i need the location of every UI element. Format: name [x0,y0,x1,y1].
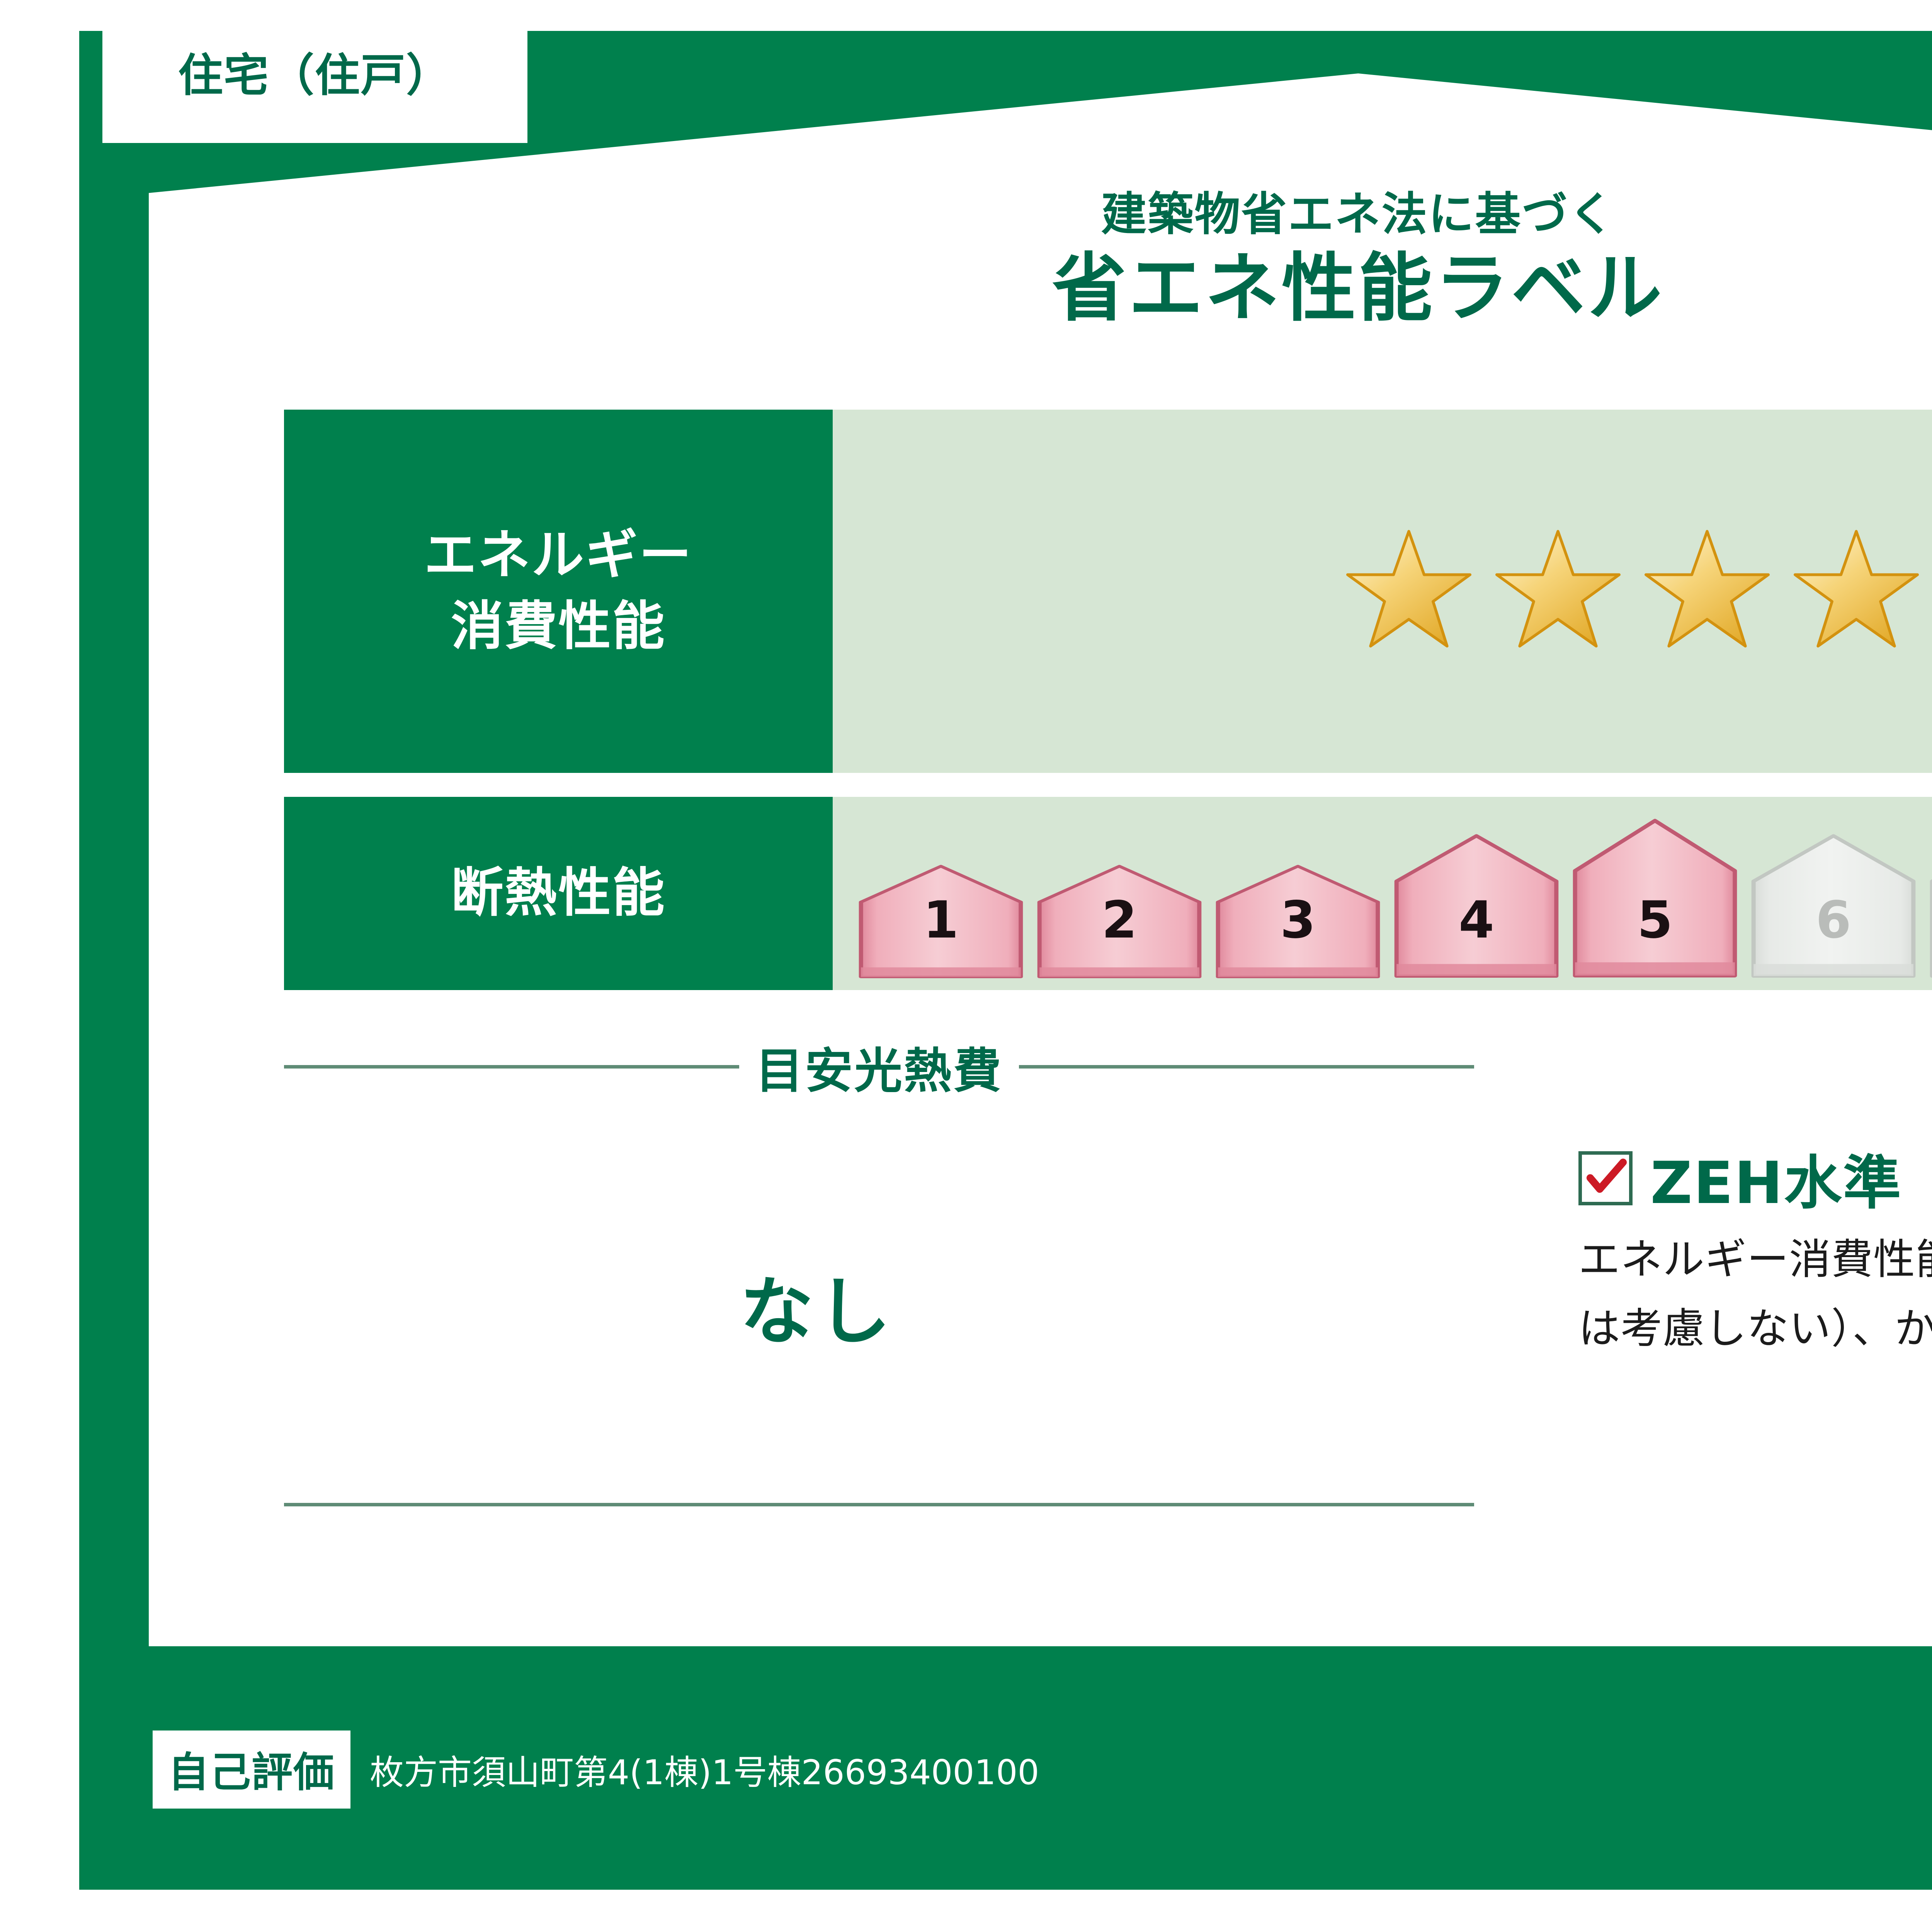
star-icon [1793,527,1920,655]
energy-performance-row-label: エネルギー 消費性能 [284,410,833,773]
insulation-performance-row-label: 断熱性能 [284,797,833,990]
insulation-level-number: 7 [1927,890,1932,950]
insulation-level-7: 7 [1927,833,1932,980]
energy-cost-header: 目安光熱費 [284,1032,1474,1101]
insulation-level-1: 1 [856,864,1026,980]
insulation-performance-row-value: 1234567 [833,797,1932,990]
insulation-level-number: 6 [1748,890,1918,950]
zeh-desc-1a: エネルギー消費性能で [1578,1230,1932,1289]
performance-rows: エネルギー 消費性能 断熱性能 1234567 [284,410,1932,990]
insulation-level-number: 4 [1391,890,1561,950]
zeh-description-line-2: は考慮しない）、かつ断熱性能で [1578,1299,1932,1358]
zeh-checkbox[interactable] [1578,1151,1633,1205]
divider-left [284,1065,739,1069]
insulation-performance-label: 断熱性能 [451,858,666,929]
energy-cost-underline [284,1503,1474,1506]
insulation-level-6: 6 [1748,833,1918,980]
zeh-desc-2a: は考慮しない）、かつ断熱性能で [1578,1299,1932,1358]
energy-performance-label-line1: エネルギー [424,520,693,591]
self-evaluation-badge: 自己評価 [153,1731,350,1809]
energy-performance-row: エネルギー 消費性能 [284,410,1932,773]
star-icon [1643,527,1771,655]
energy-performance-label-line2: 消費性能 [451,591,666,662]
energy-cost-body: なし ZEH水準 エネルギー消費性能で [284,1101,1932,1523]
house-type-badge-label: 住宅（住戸） [178,39,452,104]
footer-left: 自己評価 枚方市須山町第4(1棟)1号棟26693400100 [153,1731,1039,1809]
label-body-panel: 建築物省エネ法に基づく 省エネ性能ラベル エネルギー 消費性能 断熱性能 [149,73,1932,1646]
zeh-description-line-1: エネルギー消費性能で 3つ（太陽光発電 [1578,1230,1932,1289]
energy-cost-section: 目安光熱費 なし ZEH水準 [284,1032,1932,1523]
house-type-badge: 住宅（住戸） [102,0,527,143]
zeh-standard-header: ZEH水準 [1578,1136,1932,1220]
energy-cost-header-label: 目安光熱費 [739,1032,1019,1101]
insulation-level-3: 3 [1213,864,1383,980]
insulation-level-5: 5 [1570,818,1740,980]
insulation-level-4: 4 [1391,833,1561,980]
title-subtitle: 建築物省エネ法に基づく [149,189,1932,240]
energy-performance-row-value [833,410,1932,773]
insulation-level-number: 2 [1034,890,1204,950]
divider-right [1019,1065,1474,1069]
energy-cost-value: なし [740,1252,895,1358]
insulation-performance-row: 断熱性能 1234567 [284,797,1932,990]
star-icon [1494,527,1622,655]
footer: 自己評価 枚方市須山町第4(1棟)1号棟26693400100 評価日 2025… [79,1646,1932,1890]
insulation-level-number: 1 [856,890,1026,950]
page-title: 省エネ性能ラベル [149,245,1932,333]
insulation-level-number: 3 [1213,890,1383,950]
insulation-level-number: 5 [1570,890,1740,950]
star-rating [1345,527,1920,655]
insulation-level-2: 2 [1034,864,1204,980]
insulation-level-scale: 1234567 [833,818,1932,990]
zeh-standard-block: ZEH水準 エネルギー消費性能で [1578,1136,1932,1359]
star-icon [1345,527,1473,655]
zeh-standard-title: ZEH水準 [1650,1136,1902,1220]
property-address: 枚方市須山町第4(1棟)1号棟26693400100 [370,1745,1039,1794]
check-icon [1585,1156,1628,1200]
energy-performance-label: 住宅（住戸） 再エネ設備なし 建築物省エネ法に基づく 省エネ性能ラベル エネルギ… [79,31,1932,1890]
title-block: 建築物省エネ法に基づく 省エネ性能ラベル [149,189,1932,332]
